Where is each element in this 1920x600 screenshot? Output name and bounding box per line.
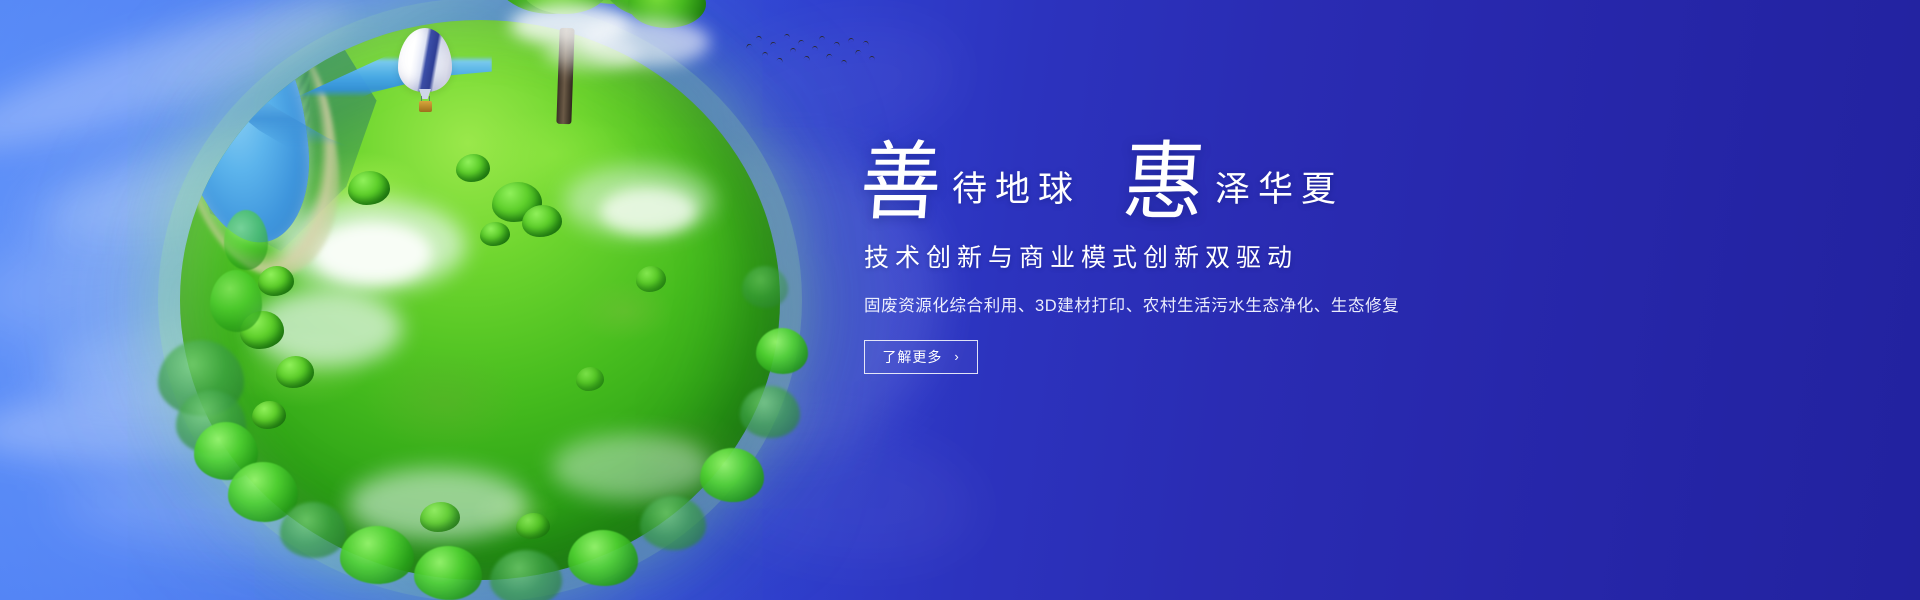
planet-cloud	[552, 434, 712, 500]
headline-rest-2: 泽华夏	[1215, 173, 1344, 220]
learn-more-label: 了解更多	[882, 347, 942, 367]
bush	[480, 222, 510, 246]
planet-cloud	[600, 188, 696, 234]
headline-rest-1: 待地球	[952, 173, 1081, 220]
bush	[252, 401, 286, 429]
earth-globe-artwork	[152, 0, 812, 600]
hot-air-balloon	[398, 28, 456, 120]
headline-lead-char-1: 善	[858, 145, 951, 224]
balloon-basket	[419, 101, 432, 112]
chevron-right-icon: ›	[954, 350, 959, 363]
bush	[522, 205, 562, 237]
subtitle: 技术创新与商业模式创新双驱动	[864, 238, 1562, 274]
bush	[420, 502, 460, 532]
headline-lead-char-2: 惠	[1121, 145, 1214, 224]
bush	[516, 513, 550, 539]
tree-on-planet	[452, 0, 702, 124]
headline-phrase-2: 惠 泽华夏	[1125, 148, 1344, 220]
headline-phrase-1: 善 待地球	[862, 148, 1081, 220]
bird-flock	[744, 32, 874, 78]
balloon-envelope	[398, 28, 452, 92]
hero-copy: 善 待地球 惠 泽华夏 技术创新与商业模式创新双驱动 固废资源化综合利用、3D建…	[862, 128, 1562, 374]
headline: 善 待地球 惠 泽华夏	[862, 128, 1562, 220]
hero-banner: 善 待地球 惠 泽华夏 技术创新与商业模式创新双驱动 固废资源化综合利用、3D建…	[0, 0, 1920, 600]
learn-more-button[interactable]: 了解更多 ›	[864, 340, 978, 374]
description: 固废资源化综合利用、3D建材打印、农村生活污水生态净化、生态修复	[864, 292, 1562, 316]
